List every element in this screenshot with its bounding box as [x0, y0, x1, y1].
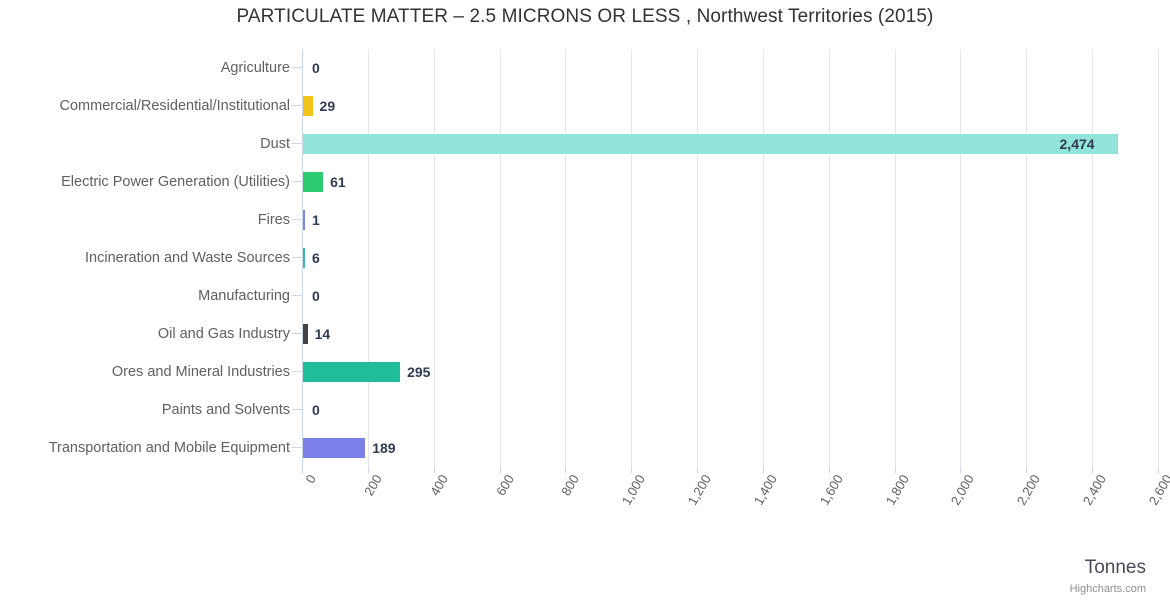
bar[interactable] [303, 362, 400, 382]
category-row: Fires [0, 201, 1170, 239]
category-row: Transportation and Mobile Equipment [0, 429, 1170, 467]
category-row: Manufacturing [0, 277, 1170, 315]
value-tick-label: 1,200 [639, 472, 714, 587]
value-tick-mark [631, 467, 632, 473]
category-tick-mark [292, 181, 302, 182]
value-tick-mark [565, 467, 566, 473]
category-row: Commercial/Residential/Institutional [0, 87, 1170, 125]
category-label: Fires [258, 201, 290, 239]
value-tick-label: 0 [244, 472, 319, 587]
value-tick-label: 1,800 [837, 472, 912, 587]
category-tick-mark [292, 143, 302, 144]
value-tick-label: 1,000 [573, 472, 648, 587]
value-tick-mark [895, 467, 896, 473]
value-tick-mark [960, 467, 961, 473]
value-tick-mark [434, 467, 435, 473]
bar[interactable] [303, 438, 365, 458]
category-row: Electric Power Generation (Utilities) [0, 163, 1170, 201]
chart-title: PARTICULATE MATTER – 2.5 MICRONS OR LESS… [0, 6, 1170, 28]
bar[interactable] [303, 210, 305, 230]
category-tick-mark [292, 371, 302, 372]
bar-value-label: 29 [320, 96, 336, 116]
value-tick-label: 1,600 [771, 472, 846, 587]
bar[interactable] [303, 248, 305, 268]
value-tick-mark [697, 467, 698, 473]
category-row: Oil and Gas Industry [0, 315, 1170, 353]
value-tick-label: 600 [442, 472, 517, 587]
value-tick-mark [1158, 467, 1159, 473]
value-tick-label: 200 [310, 472, 385, 587]
value-tick-label: 1,400 [705, 472, 780, 587]
bar-value-label: 2,474 [1060, 134, 1095, 154]
bar[interactable] [303, 324, 308, 344]
bar-value-label: 0 [312, 58, 320, 78]
category-label: Transportation and Mobile Equipment [49, 429, 290, 467]
value-tick-mark [1092, 467, 1093, 473]
category-row: Paints and Solvents [0, 391, 1170, 429]
category-tick-mark [292, 333, 302, 334]
category-tick-mark [292, 447, 302, 448]
category-label: Incineration and Waste Sources [85, 239, 290, 277]
value-tick-mark [302, 467, 303, 473]
bar-value-label: 189 [372, 438, 395, 458]
x-axis-title: Tonnes [1085, 557, 1146, 579]
bar-value-label: 0 [312, 286, 320, 306]
bar-value-label: 14 [315, 324, 331, 344]
chart-container: PARTICULATE MATTER – 2.5 MICRONS OR LESS… [0, 0, 1170, 600]
category-label: Manufacturing [198, 277, 290, 315]
category-label: Dust [260, 125, 290, 163]
value-tick-mark [368, 467, 369, 473]
value-tick-label: 2,000 [902, 472, 977, 587]
value-tick-label: 400 [376, 472, 451, 587]
category-label: Paints and Solvents [162, 391, 290, 429]
value-tick-mark [500, 467, 501, 473]
category-label: Oil and Gas Industry [158, 315, 290, 353]
category-tick-mark [292, 295, 302, 296]
bar[interactable] [303, 172, 323, 192]
category-tick-mark [292, 219, 302, 220]
value-tick-label: 2,200 [968, 472, 1043, 587]
bar-value-label: 1 [312, 210, 320, 230]
category-tick-mark [292, 67, 302, 68]
value-tick-label: 800 [507, 472, 582, 587]
value-tick-mark [763, 467, 764, 473]
category-label: Commercial/Residential/Institutional [60, 87, 291, 125]
category-tick-mark [292, 105, 302, 106]
category-label: Agriculture [221, 49, 290, 87]
category-row: Ores and Mineral Industries [0, 353, 1170, 391]
category-row: Agriculture [0, 49, 1170, 87]
category-tick-mark [292, 409, 302, 410]
bar-value-label: 295 [407, 362, 430, 382]
category-tick-mark [292, 257, 302, 258]
category-label: Electric Power Generation (Utilities) [61, 163, 290, 201]
value-tick-mark [829, 467, 830, 473]
bar-value-label: 0 [312, 400, 320, 420]
bar-value-label: 61 [330, 172, 346, 192]
bar[interactable] [303, 96, 313, 116]
category-label: Ores and Mineral Industries [112, 353, 290, 391]
bar-value-label: 6 [312, 248, 320, 268]
category-row: Incineration and Waste Sources [0, 239, 1170, 277]
value-tick-mark [1026, 467, 1027, 473]
bar[interactable] [303, 134, 1118, 154]
credits-label: Highcharts.com [1070, 583, 1146, 595]
